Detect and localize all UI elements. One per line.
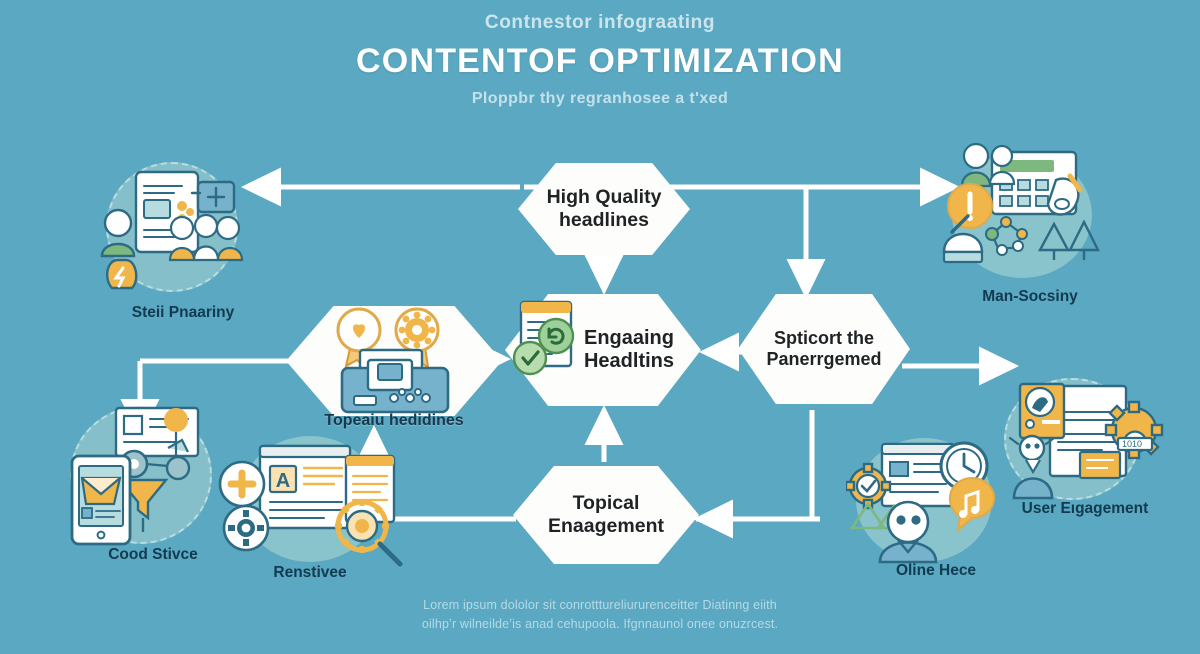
document-search-gear-icon: A [212, 440, 408, 568]
node-topical-headlines-label: Topeaiu hedidines [286, 412, 502, 430]
svg-text:1010: 1010 [1122, 439, 1142, 449]
node-support-engagement-label: Spticort thePanerrgemed [760, 328, 887, 370]
document-refresh-check-icon [508, 296, 586, 394]
cluster-responsive[interactable]: A [212, 440, 408, 590]
cluster-user-label: User Eıgagement [990, 500, 1180, 518]
cluster-social[interactable]: Man-Socsiny [930, 142, 1130, 304]
cluster-social-label: Man-Socsiny [930, 288, 1130, 306]
footer-line-2: oilhpʼr wilneildeʼis anad cehupoola. Ifg… [0, 615, 1200, 634]
cluster-strategy[interactable]: Steii Pnaariny [78, 160, 288, 320]
social-management-icon [930, 142, 1130, 287]
svg-text:A: A [276, 470, 290, 492]
cluster-online-label: Oline Hece [846, 562, 1026, 580]
user-engagement-gear-icon: 1010 [990, 382, 1180, 502]
node-high-quality-label: High Qualityheadlines [541, 186, 668, 231]
cluster-responsive-label: Renstivee [212, 564, 408, 582]
strategy-planning-icon [78, 160, 288, 300]
printer-awards-icon [310, 296, 480, 424]
cluster-user[interactable]: 1010 User Eıgagement [990, 382, 1180, 522]
footer-line-1: Lorem ipsum dololor sit conrotttureliuru… [0, 596, 1200, 615]
node-topical-engagement-label: TopicalEnaagement [542, 492, 670, 537]
footer-block: Lorem ipsum dololor sit conrotttureliuru… [0, 596, 1200, 634]
cluster-strategy-label: Steii Pnaariny [78, 304, 288, 322]
team-group [170, 215, 242, 260]
infographic-canvas: Contnestor infograating CONTENTOF OPTIMI… [0, 0, 1200, 654]
